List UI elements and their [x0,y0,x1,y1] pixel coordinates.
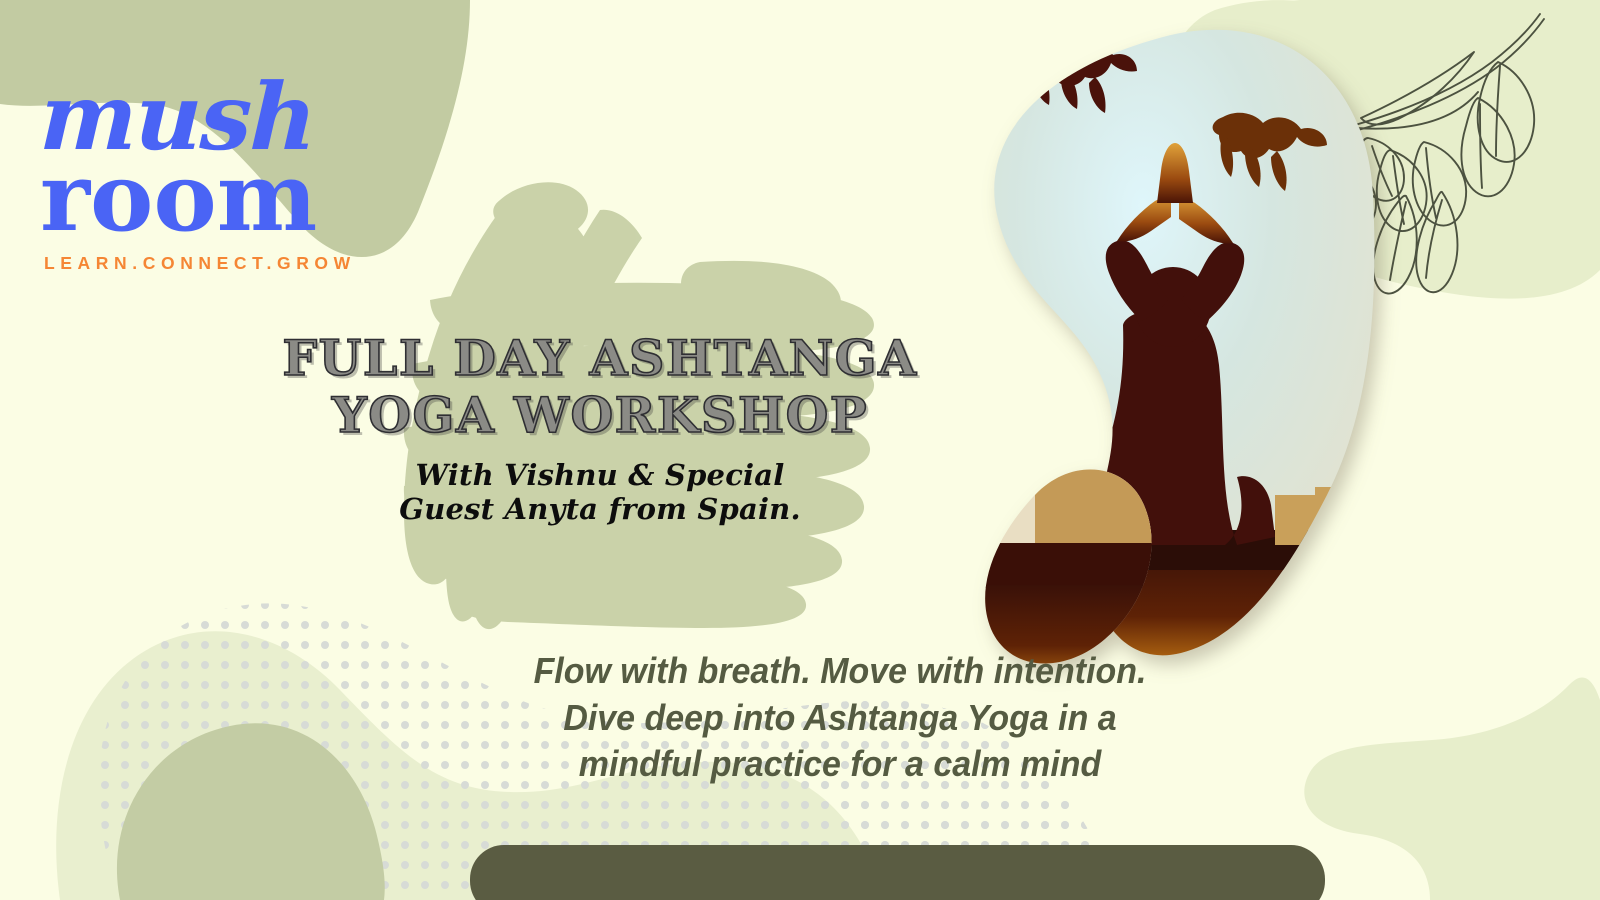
brand-logo[interactable]: mush room LEARN.CONNECT.GROW [40,78,400,274]
logo-word-mush: mush [39,78,402,157]
logo-tagline: LEARN.CONNECT.GROW [40,253,400,274]
hero-subtitle: With Vishnu & Special Guest Anyta from S… [280,458,920,528]
body-tagline: Flow with breath. Move with intention. D… [468,648,1212,788]
pale-blob-bottom-right-main [1304,677,1600,900]
footer-bar[interactable] [470,845,1325,900]
page-title: FULL DAY ASHTANGA YOGA WORKSHOP [280,330,920,444]
sage-blob-bottom-left [117,723,385,900]
poster-canvas: mush room LEARN.CONNECT.GROW FULL DAY AS… [0,0,1600,900]
hero-title-block: FULL DAY ASHTANGA YOGA WORKSHOP With Vis… [280,330,920,527]
yoga-photo-blob [975,25,1375,675]
